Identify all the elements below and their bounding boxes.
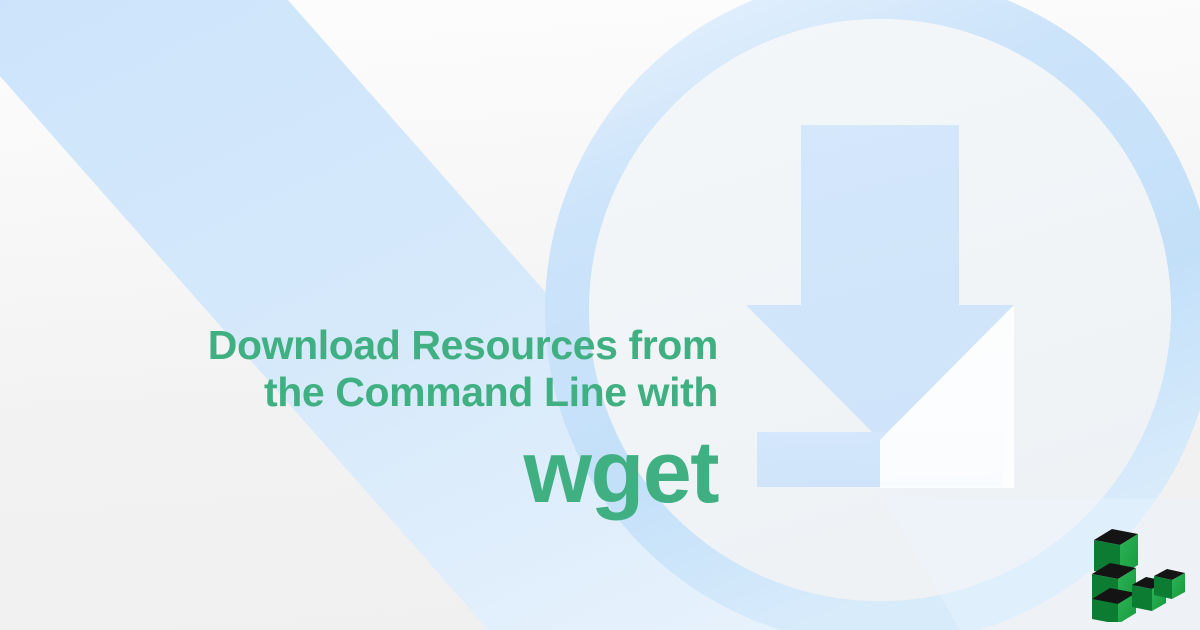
cube-foot-outer: [1154, 569, 1185, 599]
headline-block: Download Resources from the Command Line…: [0, 322, 718, 516]
background-artwork: [0, 0, 1200, 630]
headline-line-1: Download Resources from: [0, 322, 718, 369]
headline-line-2: the Command Line with: [0, 369, 718, 416]
linuxize-cubes-icon: [1076, 512, 1186, 622]
headline-term: wget: [0, 428, 718, 516]
og-card: Download Resources from the Command Line…: [0, 0, 1200, 630]
brand-logo: [1076, 512, 1186, 622]
